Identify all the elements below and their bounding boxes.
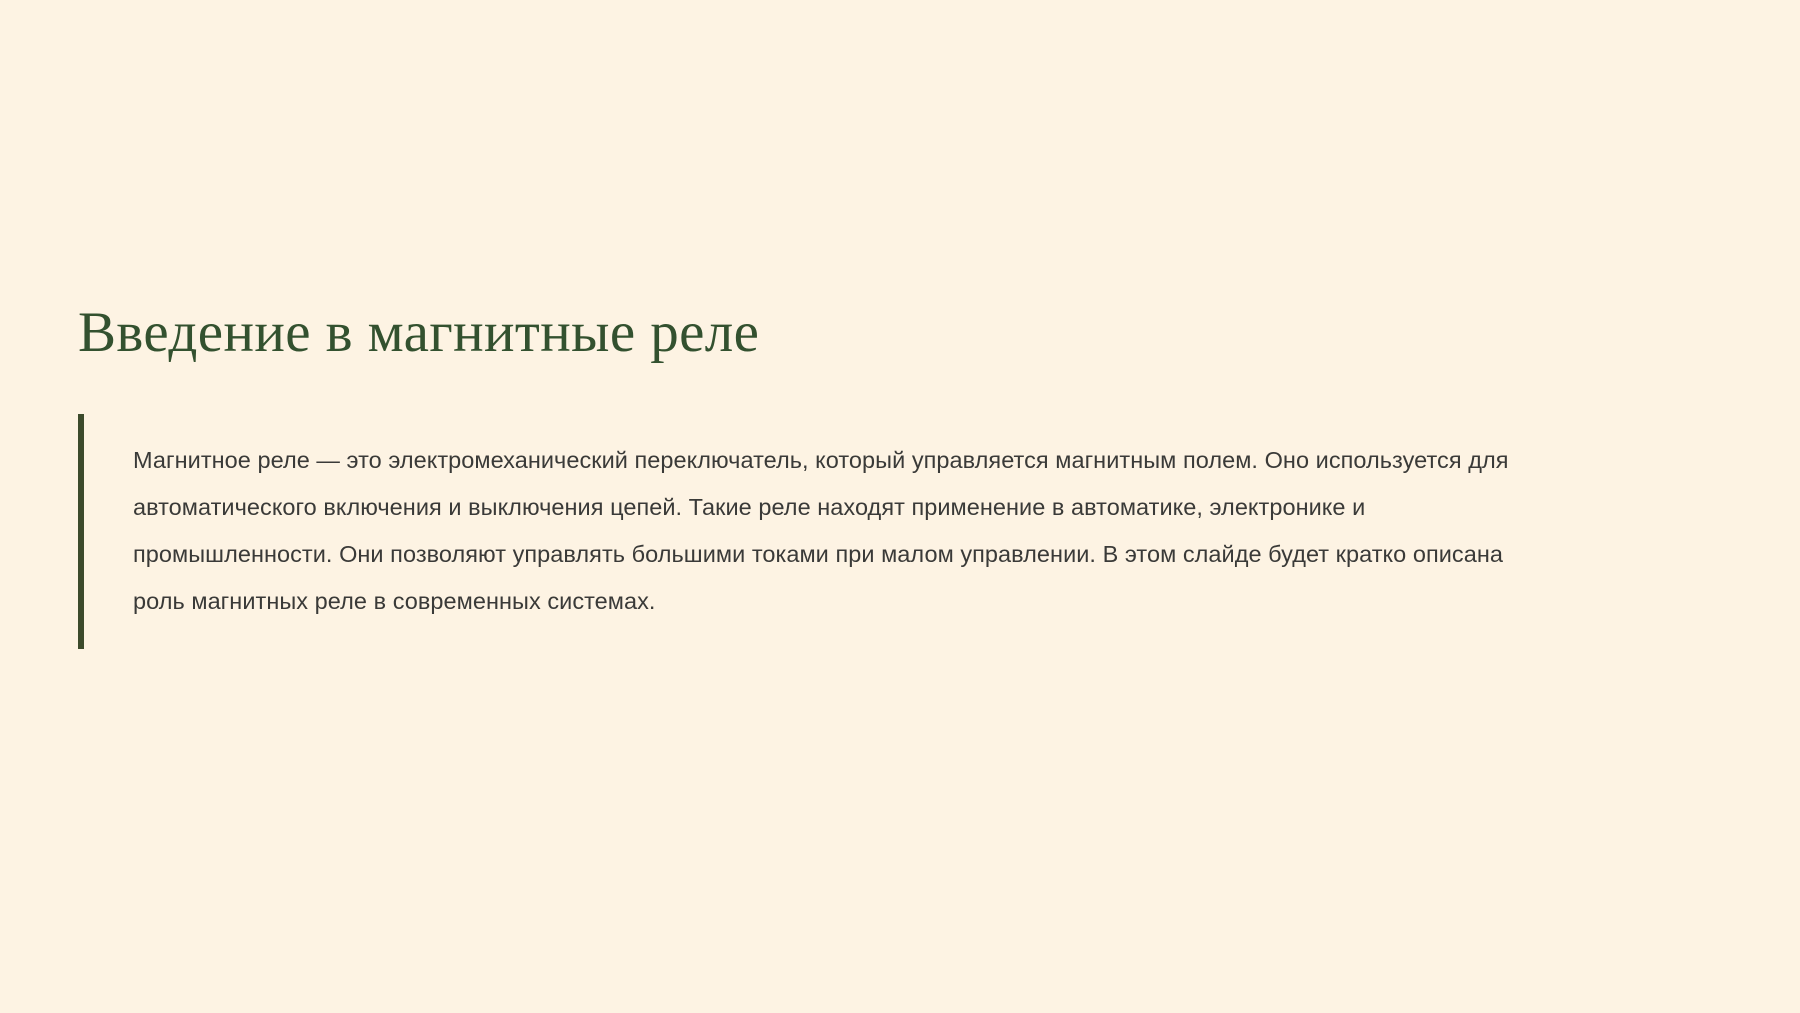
- accent-bar: [78, 414, 84, 649]
- page-title: Введение в магнитные реле: [78, 300, 1558, 366]
- slide-content: Введение в магнитные реле Магнитное реле…: [78, 300, 1558, 649]
- slide: Введение в магнитные реле Магнитное реле…: [0, 0, 1800, 1013]
- quote-block: Магнитное реле — это электромеханический…: [78, 414, 1558, 649]
- body-paragraph: Магнитное реле — это электромеханический…: [133, 437, 1558, 625]
